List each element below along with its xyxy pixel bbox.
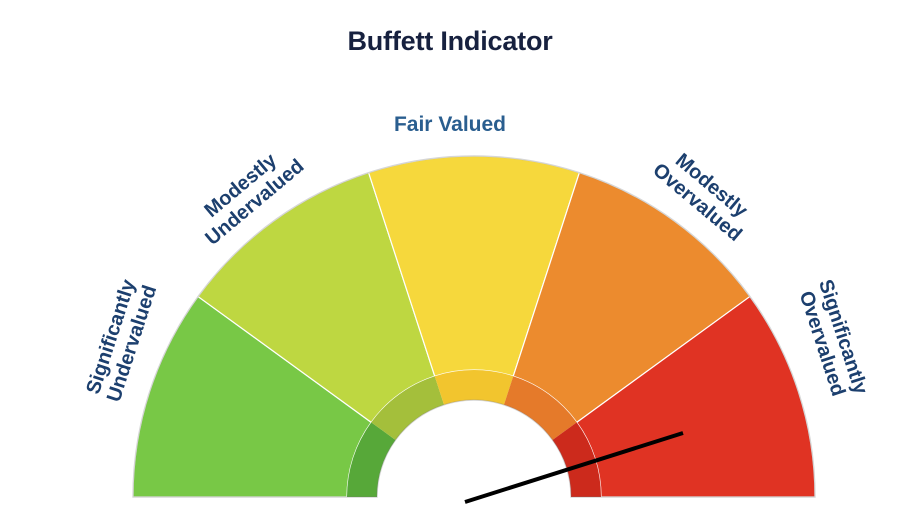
gauge-chart-canvas: Buffett Indicator Fair Valued Significan… <box>0 0 900 525</box>
gauge-label-fair-valued: Fair Valued <box>0 113 900 137</box>
gauge-label-fair-valued-line1: Fair Valued <box>0 113 900 137</box>
